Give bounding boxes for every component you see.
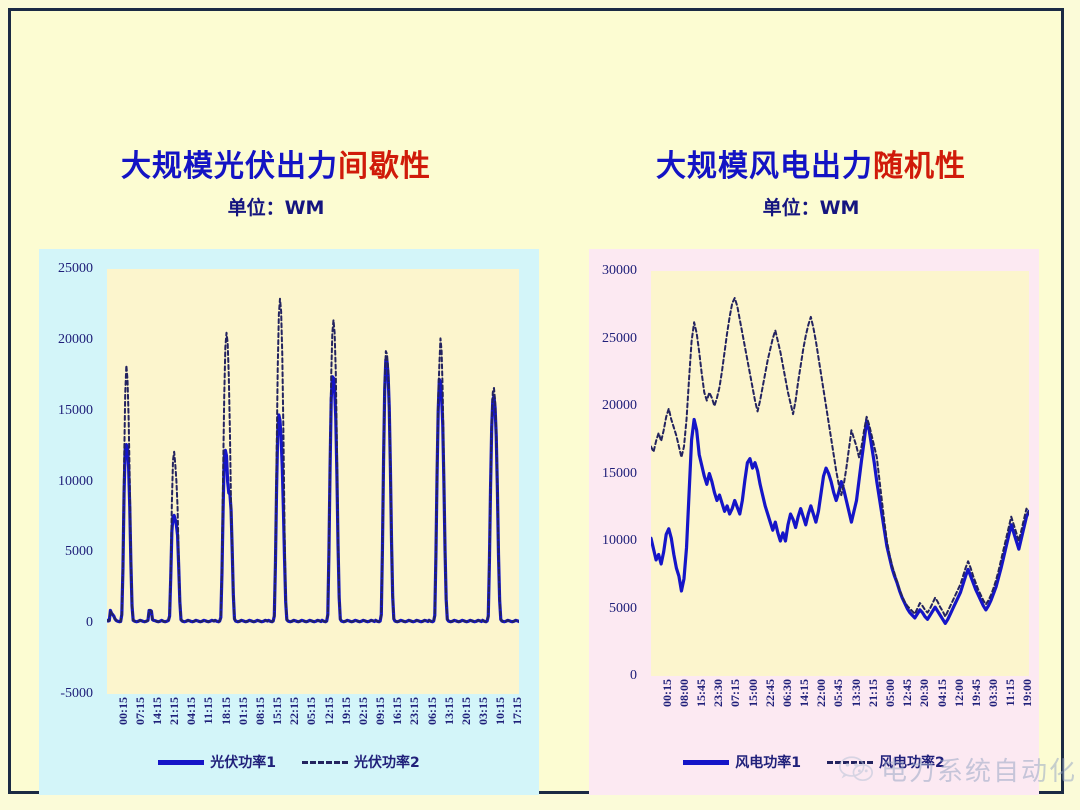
right-title-block: 大规模风电出力随机性 单位：WM — [586, 141, 1036, 220]
x-axis-tick: 07:15 — [133, 697, 148, 725]
series-line — [107, 299, 519, 622]
x-axis-tick: 05:00 — [883, 679, 898, 707]
pv-series-svg — [107, 269, 519, 694]
x-axis-tick: 15:45 — [694, 679, 709, 707]
series-line — [651, 420, 1029, 624]
solid-line-icon — [158, 760, 204, 765]
left-title-block: 大规模光伏出力间歇性 单位：WM — [41, 141, 511, 220]
x-axis-tick: 13:15 — [442, 697, 457, 725]
x-axis-tick: 21:15 — [866, 679, 881, 707]
x-axis-tick: 08:00 — [677, 679, 692, 707]
x-axis-tick: 05:45 — [831, 679, 846, 707]
y-axis-tick: -5000 — [60, 686, 101, 702]
x-axis-tick: 23:15 — [407, 697, 422, 725]
x-axis-tick: 16:15 — [390, 697, 405, 725]
x-axis-tick: 02:15 — [356, 697, 371, 725]
x-axis-tick: 00:15 — [660, 679, 675, 707]
x-axis-tick: 12:15 — [322, 697, 337, 725]
x-axis-tick: 19:15 — [339, 697, 354, 725]
x-axis-tick: 00:15 — [116, 697, 131, 725]
y-axis-tick: 20000 — [602, 398, 645, 414]
x-axis-tick: 10:15 — [493, 697, 508, 725]
left-title-blue: 大规模光伏出力 — [121, 149, 338, 184]
x-axis-tick: 05:15 — [304, 697, 319, 725]
y-axis-tick: 5000 — [65, 544, 101, 560]
right-title-red: 随机性 — [873, 149, 966, 184]
x-axis-tick: 18:15 — [219, 697, 234, 725]
x-axis-tick: 15:00 — [746, 679, 761, 707]
x-axis-tick: 12:45 — [900, 679, 915, 707]
left-subtitle: 单位：WM — [41, 193, 511, 220]
x-axis-tick: 12:00 — [952, 679, 967, 707]
x-axis-tick: 21:15 — [167, 697, 182, 725]
x-axis-tick: 09:15 — [373, 697, 388, 725]
left-title-red: 间歇性 — [338, 149, 431, 184]
right-subtitle: 单位：WM — [586, 193, 1036, 220]
x-axis-tick: 06:15 — [425, 697, 440, 725]
x-axis-tick: 22:45 — [763, 679, 778, 707]
y-axis-tick: 25000 — [58, 261, 101, 277]
pv-legend: 光伏功率1 光伏功率2 — [39, 752, 539, 772]
wind-chart-panel: 300002500020000150001000050000 00:1508:0… — [589, 249, 1039, 795]
x-axis-tick: 14:15 — [150, 697, 165, 725]
pv-x-axis: 00:1507:1514:1521:1504:1511:1518:1501:15… — [107, 697, 519, 757]
pv-plot-area — [107, 269, 519, 694]
pv-legend-label-2: 光伏功率2 — [354, 752, 420, 772]
x-axis-tick: 08:15 — [253, 697, 268, 725]
x-axis-tick: 13:30 — [849, 679, 864, 707]
x-axis-tick: 06:30 — [780, 679, 795, 707]
pv-y-axis: 2500020000150001000050000-5000 — [39, 269, 101, 694]
series-line — [651, 298, 1029, 617]
pv-legend-item-1: 光伏功率1 — [158, 752, 276, 772]
x-axis-tick: 03:30 — [986, 679, 1001, 707]
x-axis-tick: 01:15 — [236, 697, 251, 725]
x-axis-tick: 23:30 — [711, 679, 726, 707]
x-axis-tick: 04:15 — [935, 679, 950, 707]
pv-legend-label-1: 光伏功率1 — [210, 752, 276, 772]
x-axis-tick: 15:15 — [270, 697, 285, 725]
x-axis-tick: 11:15 — [1003, 679, 1018, 706]
x-axis-tick: 19:00 — [1020, 679, 1035, 707]
x-axis-tick: 22:15 — [287, 697, 302, 725]
y-axis-tick: 0 — [86, 615, 101, 631]
x-axis-tick: 17:15 — [510, 697, 525, 725]
y-axis-tick: 30000 — [602, 263, 645, 279]
x-axis-tick: 04:15 — [184, 697, 199, 725]
y-axis-tick: 5000 — [609, 601, 645, 617]
wind-x-axis: 00:1508:0015:4523:3007:1515:0022:4506:30… — [651, 679, 1029, 739]
y-axis-tick: 0 — [630, 668, 645, 684]
right-title: 大规模风电出力随机性 — [586, 141, 1036, 185]
x-axis-tick: 22:00 — [814, 679, 829, 707]
y-axis-tick: 10000 — [58, 474, 101, 490]
wind-series-svg — [651, 271, 1029, 676]
wind-legend-item-1: 风电功率1 — [683, 752, 801, 772]
y-axis-tick: 20000 — [58, 332, 101, 348]
right-title-blue: 大规模风电出力 — [656, 149, 873, 184]
y-axis-tick: 15000 — [58, 403, 101, 419]
solid-line-icon — [683, 760, 729, 765]
wind-y-axis: 300002500020000150001000050000 — [589, 271, 645, 676]
y-axis-tick: 15000 — [602, 466, 645, 482]
x-axis-tick: 07:15 — [728, 679, 743, 707]
x-axis-tick: 03:15 — [476, 697, 491, 725]
slide-canvas: 大规模光伏出力间歇性 单位：WM 大规模风电出力随机性 单位：WM 250002… — [8, 8, 1064, 794]
wind-legend-label-1: 风电功率1 — [735, 752, 801, 772]
watermark: 电力系统自动化 — [839, 751, 1077, 788]
wind-plot-area — [651, 271, 1029, 676]
y-axis-tick: 10000 — [602, 533, 645, 549]
x-axis-tick: 20:30 — [917, 679, 932, 707]
x-axis-tick: 20:15 — [459, 697, 474, 725]
dashed-line-icon — [302, 761, 348, 764]
x-axis-tick: 11:15 — [201, 697, 216, 724]
x-axis-tick: 19:45 — [969, 679, 984, 707]
x-axis-tick: 14:15 — [797, 679, 812, 707]
watermark-text: 电力系统自动化 — [881, 751, 1077, 788]
pv-legend-item-2: 光伏功率2 — [302, 752, 420, 772]
y-axis-tick: 25000 — [602, 331, 645, 347]
wechat-icon — [839, 755, 873, 785]
pv-chart-panel: 2500020000150001000050000-5000 00:1507:1… — [39, 249, 539, 795]
series-line — [107, 360, 519, 622]
left-title: 大规模光伏出力间歇性 — [41, 141, 511, 185]
